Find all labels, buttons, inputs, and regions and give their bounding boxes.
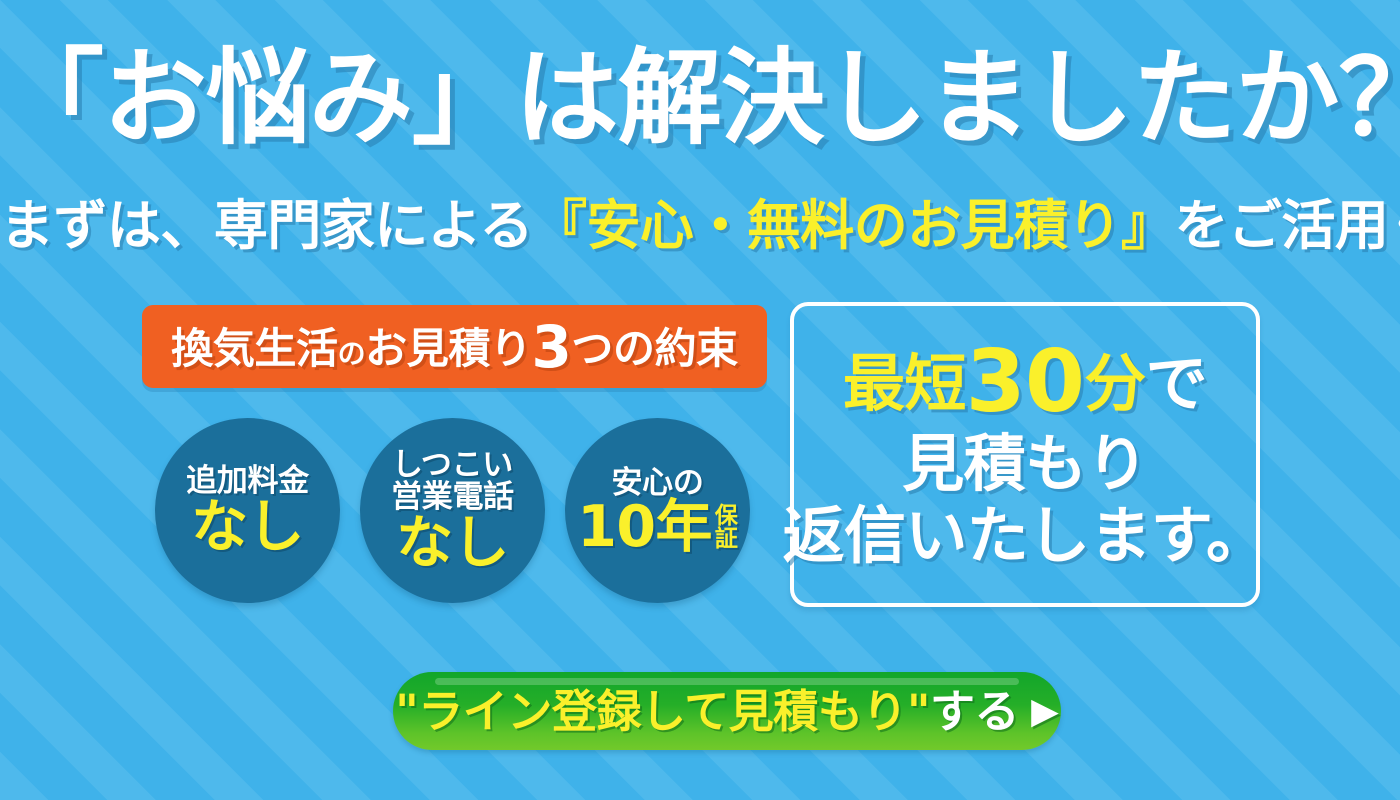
speed-number: 30 bbox=[966, 332, 1084, 432]
circle-no-sales-calls: しつこい 営業電話 なし bbox=[360, 418, 545, 603]
circle-2-top-line2: 営業電話 bbox=[391, 481, 514, 513]
circle-3-vertical-char1: 保 bbox=[715, 505, 738, 528]
promise-count: 3 bbox=[531, 313, 571, 381]
circle-ten-year-warranty: 安心の 10年 保 証 bbox=[565, 418, 750, 603]
promo-banner: 「お悩み」は解決しましたか？ まずは、専門家による『安心・無料のお見積り』をご活… bbox=[0, 0, 1400, 800]
speed-promise-box: 最短30分で 見積もり 返信いたします。 bbox=[790, 302, 1260, 607]
subtitle-tail: をご活用ください。 bbox=[1175, 194, 1400, 257]
cta-quoted-text: "ライン登録して見積もり" bbox=[395, 685, 930, 738]
circle-1-main: なし bbox=[191, 499, 304, 556]
circle-no-extra-fee: 追加料金 なし bbox=[155, 418, 340, 603]
promise-banner-text: 換気生活のお見積り3つの約束 bbox=[171, 318, 738, 376]
speed-line-3: 返信いたします。 bbox=[783, 501, 1268, 570]
promise-banner: 換気生活のお見積り3つの約束 bbox=[142, 305, 767, 388]
cta-label: "ライン登録して見積もり"する bbox=[395, 689, 1019, 734]
subtitle-highlight: 『安心・無料のお見積り』 bbox=[533, 194, 1175, 257]
line-register-cta-button[interactable]: "ライン登録して見積もり"する ▶ bbox=[393, 672, 1061, 750]
speed-line-1: 最短30分で bbox=[843, 339, 1207, 425]
cta-suffix-text: する bbox=[930, 685, 1019, 738]
circle-1-top: 追加料金 bbox=[186, 465, 309, 497]
play-arrow-icon: ▶ bbox=[1031, 691, 1059, 732]
speed-line-2: 見積もり bbox=[902, 429, 1148, 498]
subtitle-lead: まずは、専門家による bbox=[0, 194, 533, 257]
circle-2-main: なし bbox=[396, 515, 509, 572]
circle-3-number: 10年 bbox=[577, 500, 712, 554]
circle-3-vertical: 保 証 bbox=[715, 505, 738, 554]
promise-part3: つの約束 bbox=[571, 324, 737, 373]
circle-2-top-line1: しつこい bbox=[392, 449, 513, 481]
circle-3-main-row: 10年 保 証 bbox=[577, 500, 737, 554]
page-headline: 「お悩み」は解決しましたか？ bbox=[0, 42, 1400, 154]
promise-part1: 換気生活 bbox=[171, 324, 337, 373]
speed-lead: 最短 bbox=[843, 347, 966, 420]
subtitle: まずは、専門家による『安心・無料のお見積り』をご活用ください。 bbox=[0, 196, 1400, 255]
promise-no: の bbox=[338, 337, 366, 370]
promise-circle-group: 追加料金 なし しつこい 営業電話 なし 安心の 10年 保 証 bbox=[155, 418, 770, 618]
speed-unit: 分 bbox=[1084, 347, 1145, 420]
promise-part2: お見積り bbox=[365, 324, 531, 373]
speed-tail: で bbox=[1146, 347, 1207, 420]
circle-3-vertical-char2: 証 bbox=[715, 528, 738, 551]
